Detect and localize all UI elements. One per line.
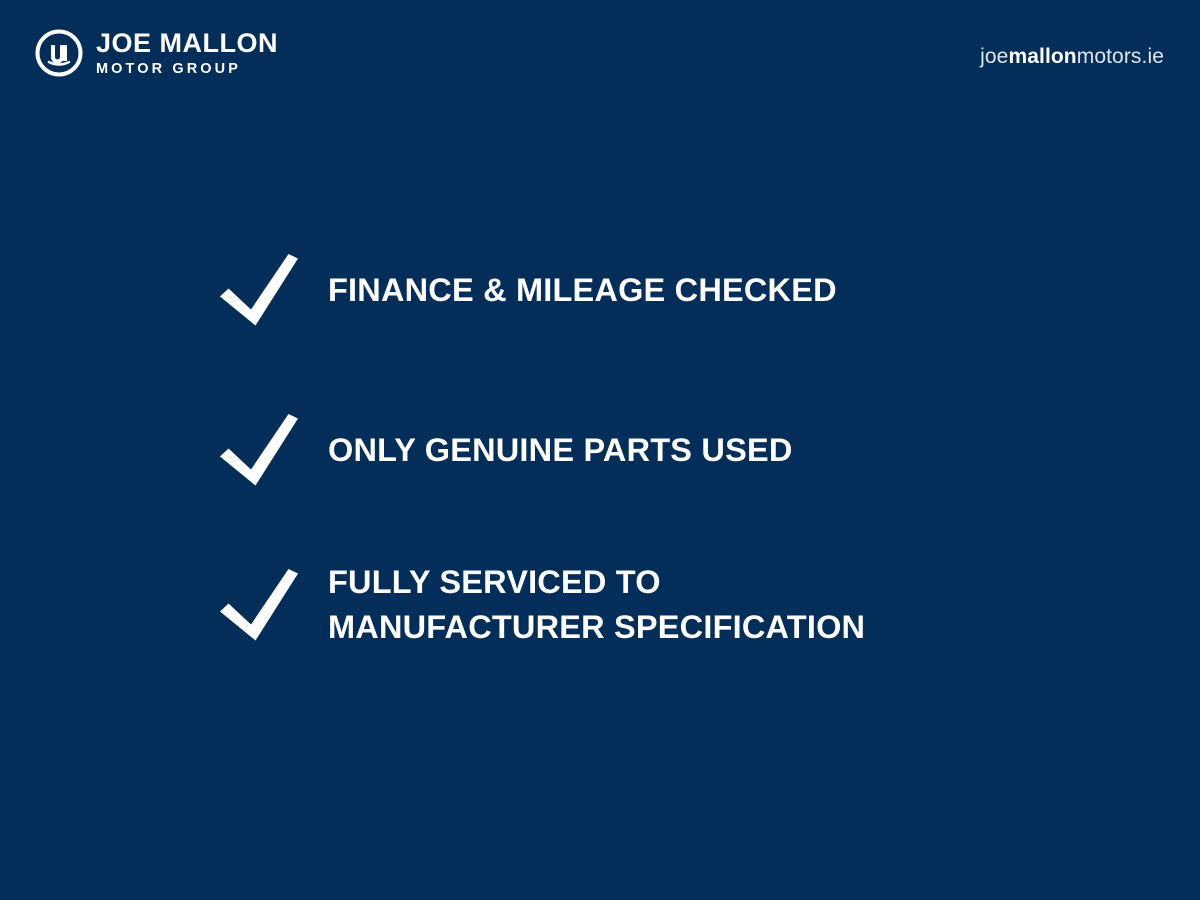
brand-lockup: JOE MALLON MOTOR GROUP [34,28,278,78]
list-item-label: FINANCE & MILEAGE CHECKED [328,268,837,313]
checkmark-icon [218,567,300,643]
list-item-label: FULLY SERVICED TO MANUFACTURER SPECIFICA… [328,560,865,650]
site-url-suffix: motors.ie [1077,45,1164,68]
brand-wordmark: JOE MALLON MOTOR GROUP [96,29,278,77]
site-url-emphasis: mallon [1008,45,1076,68]
list-item-label: ONLY GENUINE PARTS USED [328,428,793,473]
brand-subtitle: MOTOR GROUP [96,62,278,77]
promo-banner: JOE MALLON MOTOR GROUP joemallonmotors.i… [0,0,1200,900]
list-item: FULLY SERVICED TO MANUFACTURER SPECIFICA… [218,560,865,650]
list-item: FINANCE & MILEAGE CHECKED [218,252,837,328]
checkmark-icon [218,252,300,328]
checkmark-icon [218,412,300,488]
jm-monogram-icon [34,28,84,78]
site-url-prefix: joe [980,45,1008,68]
list-item: ONLY GENUINE PARTS USED [218,412,793,488]
brand-name: JOE MALLON [96,30,278,57]
site-url: joemallonmotors.ie [980,46,1164,67]
